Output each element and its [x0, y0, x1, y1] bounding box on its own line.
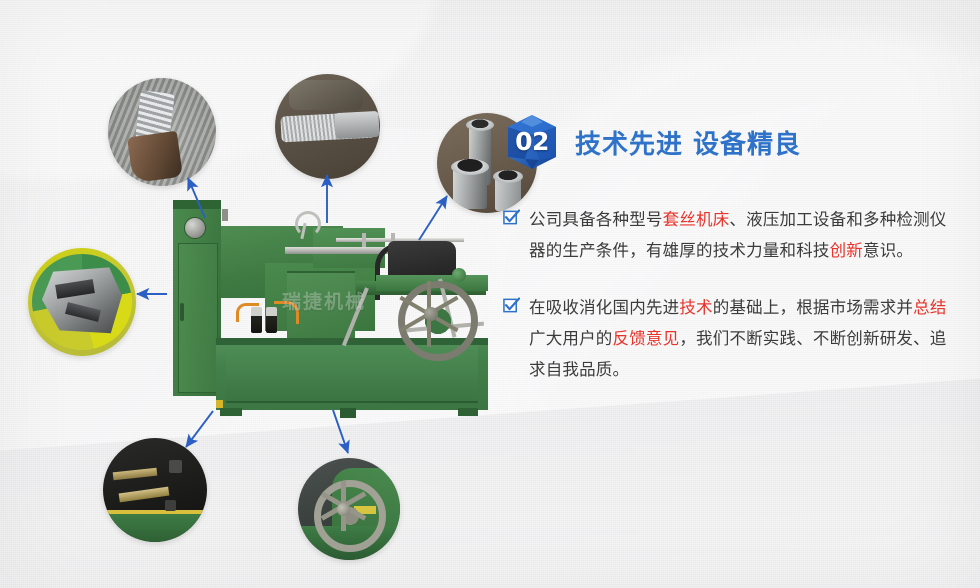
highlighted-term: 反馈意见	[613, 329, 680, 348]
bullet-item: 公司具备各种型号套丝机床、液压加工设备和多种检测仪器的生产条件，有雄厚的技术力量…	[503, 204, 958, 266]
brass-fitting-2	[119, 487, 170, 503]
handwheel-hub-detail	[337, 503, 350, 516]
body-text: 在吸收消化国内先进	[529, 298, 679, 317]
body-text: 的基础上，根据市场需求并	[713, 298, 913, 317]
machine-lubricator-2	[266, 307, 277, 333]
brass-fitting-1	[113, 468, 158, 481]
content-panel: 02 技术先进 设备精良 公司具备各种型号套丝机床、液压加工设备和多种检测仪器的…	[503, 110, 958, 411]
machine-foot-right	[458, 408, 478, 416]
machine-handwheel-hub	[424, 307, 438, 321]
machine-switch	[222, 209, 228, 221]
yellow-line-detail	[103, 510, 207, 514]
callout-threaded-rod-tip	[108, 78, 216, 186]
bullet-text-1: 公司具备各种型号套丝机床、液压加工设备和多种检测仪器的生产条件，有雄厚的技术力量…	[529, 210, 947, 260]
callout-chuck-jaws	[28, 248, 136, 356]
machine-foot-left	[220, 408, 242, 416]
product-image: 瑞捷机械	[150, 183, 502, 433]
section-number-badge: 02	[503, 113, 561, 171]
bullet-list: 公司具备各种型号套丝机床、液压加工设备和多种检测仪器的生产条件，有雄厚的技术力量…	[503, 204, 958, 385]
machine-foot-middle	[340, 408, 356, 418]
rod-shank-detail	[127, 131, 183, 184]
machine-cabinet-top	[173, 200, 221, 209]
bolt-detail-2	[165, 500, 176, 511]
machine-door-handle	[180, 303, 184, 321]
machine-lifting-hook	[295, 211, 321, 237]
body-text: 意识。	[863, 241, 913, 260]
callout-hydraulic-fittings	[103, 438, 207, 542]
highlighted-term: 技术	[679, 298, 712, 317]
machine-handwheel	[398, 281, 478, 361]
callout-threaded-bar	[275, 74, 380, 179]
workbench-detail	[289, 80, 363, 110]
machine-dial-icon	[184, 217, 206, 239]
section-title: 技术先进 设备精良	[575, 124, 801, 161]
highlighted-term: 创新	[830, 241, 863, 260]
product-watermark: 瑞捷机械	[282, 287, 402, 314]
checkbox-checked-icon	[503, 297, 520, 314]
section-number-text: 02	[503, 113, 561, 171]
body-text: 广大用户的	[529, 329, 613, 348]
machine-shaft-collar-1	[362, 233, 366, 247]
checkbox-checked-icon	[503, 209, 520, 226]
machine-knob	[452, 268, 466, 282]
machine-cabinet-door	[178, 243, 218, 393]
body-text: 公司具备各种型号	[529, 210, 663, 229]
machine-yellow-tag	[216, 400, 223, 408]
pipe-detail-2	[453, 165, 487, 209]
bullet-item: 在吸收消化国内先进技术的基础上，根据市场需求并总结广大用户的反馈意见，我们不断实…	[503, 292, 958, 385]
bolt-detail-1	[169, 460, 182, 473]
promo-banner: 瑞捷机械	[0, 0, 980, 588]
section-heading: 02 技术先进 设备精良	[503, 110, 958, 174]
handwheel-rim-detail	[314, 480, 386, 552]
machine-base-detail	[103, 512, 207, 542]
highlighted-term: 套丝机床	[663, 210, 730, 229]
callout-handwheel	[298, 458, 400, 560]
smooth-section-detail	[334, 111, 379, 139]
highlighted-term: 总结	[913, 298, 946, 317]
bullet-text-2: 在吸收消化国内先进技术的基础上，根据市场需求并总结广大用户的反馈意见，我们不断实…	[529, 298, 947, 379]
machine-lubricator-1	[251, 307, 262, 333]
